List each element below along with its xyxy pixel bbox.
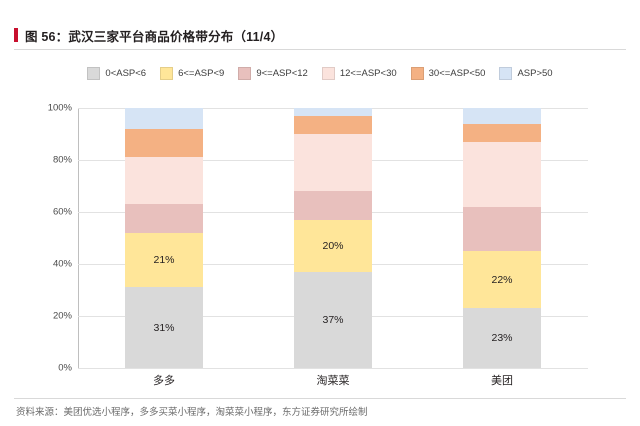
y-axis-tick: 60% bbox=[53, 207, 72, 218]
bar-segment bbox=[294, 116, 372, 134]
bar-group: 23%22% bbox=[463, 108, 541, 368]
bar-segment bbox=[294, 134, 372, 191]
legend-item: 0<ASP<6 bbox=[87, 67, 146, 80]
chart-legend: 0<ASP<66<=ASP<99<=ASP<1212<=ASP<3030<=AS… bbox=[0, 67, 640, 80]
bar-segment bbox=[294, 108, 372, 116]
y-axis-tick: 40% bbox=[53, 259, 72, 270]
bar-value-label: 23% bbox=[491, 332, 512, 344]
bar-segment bbox=[463, 207, 541, 251]
bar-segment: 37% bbox=[294, 272, 372, 368]
figure-title-bar: 图 56：武汉三家平台商品价格带分布（11/4） bbox=[14, 20, 626, 50]
legend-item: 30<=ASP<50 bbox=[411, 67, 486, 80]
legend-swatch-icon bbox=[238, 67, 251, 80]
legend-label: 9<=ASP<12 bbox=[256, 68, 308, 79]
bar-segment bbox=[463, 108, 541, 124]
legend-label: ASP>50 bbox=[517, 68, 552, 79]
legend-label: 6<=ASP<9 bbox=[178, 68, 224, 79]
bar-group: 31%21% bbox=[125, 108, 203, 368]
y-axis-tick: 0% bbox=[58, 363, 72, 374]
y-axis-tick: 100% bbox=[48, 103, 72, 114]
chart-plot-area: 0%20%40%60%80%100% 31%21%37%20%23%22% 多多… bbox=[40, 100, 600, 372]
bar-segment bbox=[125, 129, 203, 158]
y-axis-tick: 80% bbox=[53, 155, 72, 166]
legend-swatch-icon bbox=[499, 67, 512, 80]
x-axis-tick: 多多 bbox=[104, 372, 224, 388]
bar-value-label: 20% bbox=[322, 240, 343, 252]
x-axis-tick: 淘菜菜 bbox=[273, 372, 393, 388]
bar-value-label: 22% bbox=[491, 274, 512, 286]
bar-segment: 31% bbox=[125, 287, 203, 368]
bar-segment bbox=[125, 204, 203, 233]
footer-divider bbox=[14, 398, 626, 399]
legend-swatch-icon bbox=[322, 67, 335, 80]
legend-label: 30<=ASP<50 bbox=[429, 68, 486, 79]
title-accent-bar bbox=[14, 28, 18, 42]
stacked-bars: 31%21%37%20%23%22% bbox=[78, 108, 588, 368]
bar-segment bbox=[463, 142, 541, 207]
y-axis-tick: 20% bbox=[53, 311, 72, 322]
legend-item: 12<=ASP<30 bbox=[322, 67, 397, 80]
bar-segment: 23% bbox=[463, 308, 541, 368]
bar-segment bbox=[125, 108, 203, 129]
legend-item: 9<=ASP<12 bbox=[238, 67, 308, 80]
bar-segment bbox=[294, 191, 372, 220]
bar-segment bbox=[125, 157, 203, 204]
x-axis-tick-labels: 多多淘菜菜美团 bbox=[78, 372, 588, 392]
legend-item: ASP>50 bbox=[499, 67, 552, 80]
bar-segment bbox=[463, 124, 541, 142]
bar-segment: 22% bbox=[463, 251, 541, 308]
bar-value-label: 21% bbox=[153, 254, 174, 266]
title-divider bbox=[14, 49, 626, 50]
bar-value-label: 31% bbox=[153, 322, 174, 334]
bar-segment: 21% bbox=[125, 233, 203, 288]
legend-swatch-icon bbox=[87, 67, 100, 80]
page-title: 图 56：武汉三家平台商品价格带分布（11/4） bbox=[25, 26, 283, 45]
legend-label: 0<ASP<6 bbox=[105, 68, 146, 79]
gridline bbox=[78, 368, 588, 369]
bar-segment: 20% bbox=[294, 220, 372, 272]
y-axis-tick-labels: 0%20%40%60%80%100% bbox=[40, 108, 76, 368]
bar-group: 37%20% bbox=[294, 108, 372, 368]
bar-value-label: 37% bbox=[322, 314, 343, 326]
legend-swatch-icon bbox=[411, 67, 424, 80]
x-axis-tick: 美团 bbox=[442, 372, 562, 388]
legend-label: 12<=ASP<30 bbox=[340, 68, 397, 79]
legend-swatch-icon bbox=[160, 67, 173, 80]
legend-item: 6<=ASP<9 bbox=[160, 67, 224, 80]
source-note: 资料来源：美团优选小程序，多多买菜小程序，淘菜菜小程序，东方证券研究所绘制 bbox=[16, 404, 624, 418]
